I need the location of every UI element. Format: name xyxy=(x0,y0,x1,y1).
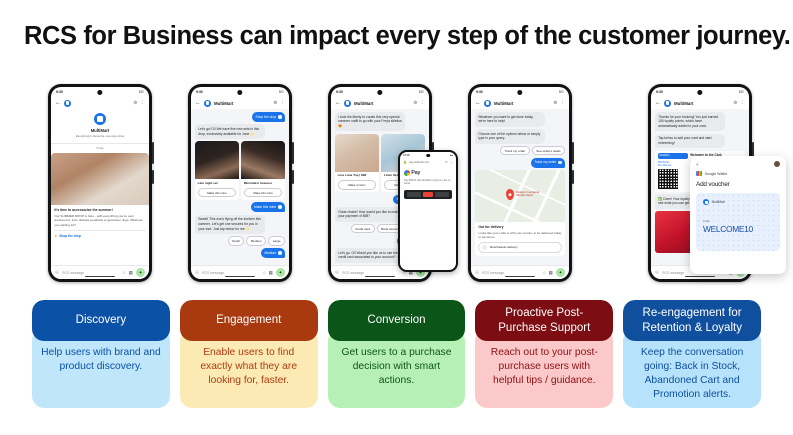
agent-message-loyalty-points: Thanks for your booking! You just earned… xyxy=(655,112,725,131)
phone-side-button xyxy=(292,142,294,164)
status-bar: 9:30 5G xyxy=(471,87,569,97)
voucher-code-value: WELCOME10 xyxy=(703,224,773,234)
camera-notch-icon xyxy=(697,90,702,95)
product-title: Minimalist treasure xyxy=(241,179,285,185)
user-reply-shop-the-drop: Shop the drop xyxy=(252,112,285,122)
payment-chip-credit-card[interactable]: Credit card xyxy=(351,224,375,233)
back-arrow-icon[interactable]: ← xyxy=(195,100,201,106)
journey-card-header: Re-engagement for Retention & Loyalty xyxy=(623,300,761,341)
camera-notch-icon xyxy=(377,90,382,95)
journey-card-text: Help users with brand and product discov… xyxy=(41,347,161,372)
voucher-merchant-name: MultiMart xyxy=(712,200,725,204)
status-bar: 9:30 5G xyxy=(651,87,749,97)
message-composer[interactable]: ☉ RCS message ○ ▦ ✦ xyxy=(191,265,289,279)
browser-address-bar[interactable]: 🔒 pay.multimart.com ↻ ⋮ xyxy=(400,159,456,166)
option-chip-see-todays-deals[interactable]: See today's deals xyxy=(532,146,565,155)
journey-card-text: Reach out to your post-purchase users wi… xyxy=(491,347,598,386)
agent-message-confirm-card: Let's go. Oi! Would you like us to use t… xyxy=(335,248,405,263)
emoji-icon[interactable]: ☉ xyxy=(195,270,199,276)
settings-icon[interactable]: ⚙ xyxy=(273,100,277,106)
home-indicator xyxy=(85,276,115,277)
product-title: Late night set xyxy=(195,179,239,185)
google-wallet-label: Google Wallet xyxy=(705,172,727,176)
slide-root: RCS for Business can impact every step o… xyxy=(0,0,793,435)
status-signal-icon: 5G xyxy=(559,90,564,94)
brand-avatar-icon xyxy=(703,199,709,205)
loyalty-card-left: MultiMart 150 Points Tier: Bronze xyxy=(658,153,688,189)
brand-intro-tagline: Everybody's favourite one-stop-shop xyxy=(56,134,144,138)
brand-intro-name: MultiMart xyxy=(56,128,144,133)
status-signal-icon: 5G xyxy=(279,90,284,94)
avatar[interactable] xyxy=(774,161,780,167)
home-indicator xyxy=(365,276,395,277)
google-pay-card-selector[interactable] xyxy=(404,190,452,199)
brand-avatar-icon xyxy=(344,100,351,107)
journey-card-title: Proactive Post-Purchase Support xyxy=(483,306,605,335)
back-arrow-icon[interactable]: ← xyxy=(55,100,61,106)
product-image xyxy=(195,141,239,179)
back-arrow-icon[interactable]: ← xyxy=(335,100,341,106)
settings-icon[interactable]: ⚙ xyxy=(413,100,417,106)
status-bar: 9:30 5G xyxy=(331,87,429,97)
reschedule-delivery-label: Reschedule delivery xyxy=(490,245,518,249)
make-this-mine-button[interactable]: Make this mine xyxy=(244,188,283,197)
agent-message-size-prompt: Sweet! This one's flying off the shelves… xyxy=(195,215,265,234)
pay-card-brand-icon xyxy=(423,192,433,197)
rich-card-summer-drop[interactable]: It's time to accessorise the summer! Our… xyxy=(51,153,149,241)
delivery-card-body: Out for delivery Looks like your order i… xyxy=(475,222,565,256)
product-carousel: Late night set Make this mine Minimalist… xyxy=(195,141,285,199)
brand-name: MultiMart xyxy=(674,101,730,106)
agent-message-greeting: Whatever you want to get done today, we'… xyxy=(475,112,545,127)
journey-card-conversion: Conversion Get users to a purchase decis… xyxy=(328,300,466,408)
emoji-icon[interactable]: ☉ xyxy=(335,270,339,276)
journey-card-text: Keep the conversation going: Back in Sto… xyxy=(641,347,743,400)
day-separator: Today xyxy=(51,144,149,153)
app-bar: ← MultiMart ⚙ ⋮ xyxy=(331,97,429,109)
settings-icon[interactable]: ⚙ xyxy=(733,100,737,106)
phone-volume-button xyxy=(152,170,154,184)
journey-card-support: Proactive Post-Purchase Support Reach ou… xyxy=(475,300,613,408)
delivery-status-text: Looks like your order is with your couri… xyxy=(478,231,561,240)
home-indicator xyxy=(225,276,255,277)
voucher-merchant: MultiMart xyxy=(703,199,773,205)
gallery-icon[interactable]: ▦ xyxy=(269,270,273,276)
phone-mockup-discovery: 9:30 5G ← MultiMart ⚙ ⋮ MultiMart Everyb… xyxy=(48,84,152,282)
voucher-card[interactable]: MultiMart Code WELCOME10 xyxy=(696,193,780,251)
phone-mockups-row: 9:30 5G ← MultiMart ⚙ ⋮ MultiMart Everyb… xyxy=(0,78,793,288)
journey-card-title: Discovery xyxy=(76,313,126,327)
make-this-mine-button[interactable]: Make this mine xyxy=(198,188,237,197)
journey-card-title: Conversion xyxy=(367,313,425,327)
sticker-icon[interactable]: ○ xyxy=(543,270,546,275)
agent-message-options: Choose one of the options below or simpl… xyxy=(475,129,545,144)
google-pay-note: Pay $98.00 with MultiMart using the card… xyxy=(404,179,452,186)
product-card-minimalist-treasure[interactable]: Minimalist treasure Make this mine xyxy=(241,141,285,199)
product-title: Lina Luna Top | $98 xyxy=(335,172,379,178)
google-pay-screen: 10:08 ●● 🔒 pay.multimart.com ↻ ⋮ Pay Pay… xyxy=(400,152,456,270)
camera-notch-icon xyxy=(426,154,430,158)
status-bar: 10:08 ●● xyxy=(400,152,456,159)
map-pin-icon xyxy=(505,189,513,200)
journey-card-text: Get users to a purchase decision with sm… xyxy=(342,347,452,386)
camera-notch-icon xyxy=(97,90,102,95)
journey-card-title: Engagement xyxy=(216,313,281,327)
conversation-engagement: Shop the drop Let's go! Oi! We have five… xyxy=(191,109,289,265)
status-signal-icon: 5G xyxy=(419,90,424,94)
brand-intro-header: MultiMart Everybody's favourite one-stop… xyxy=(51,109,149,144)
close-icon[interactable]: × xyxy=(696,162,699,167)
agent-message-payment-prompt: Great choice! How would you like to make… xyxy=(335,207,405,222)
status-signal-icon: 5G xyxy=(739,90,744,94)
overflow-menu-icon[interactable]: ⋮ xyxy=(420,100,425,106)
reschedule-delivery-button[interactable]: Reschedule delivery xyxy=(478,242,561,253)
message-composer[interactable]: ☉ RCS message ○ ▦ ✦ xyxy=(471,265,569,279)
journey-card-header: Engagement xyxy=(180,300,318,341)
status-time: 10:08 xyxy=(403,154,410,157)
agent-message-new-sets: Let's go! Oi! We have five new sets in t… xyxy=(195,124,265,139)
agent-message-curated-outfit: I took the liberty to curate this very s… xyxy=(335,112,405,131)
brand-name: MultiMart xyxy=(354,101,410,106)
app-bar: ← MultiMart ⚙ ⋮ xyxy=(191,97,289,109)
delivered-icon xyxy=(278,205,282,209)
status-time: 9:30 xyxy=(336,90,343,94)
app-bar: ← MultiMart ⚙ ⋮ xyxy=(51,97,149,109)
pay-card-chip xyxy=(407,192,421,197)
app-bar: ← MultiMart ⚙ ⋮ xyxy=(651,97,749,109)
product-image xyxy=(335,134,379,172)
back-arrow-icon[interactable]: ← xyxy=(655,100,661,106)
journey-card-engagement: Engagement Enable users to find exactly … xyxy=(180,300,318,408)
calendar-icon xyxy=(482,245,487,250)
camera-notch-icon xyxy=(237,90,242,95)
app-bar: ← MultiMart ⚙ ⋮ xyxy=(471,97,569,109)
overflow-menu-icon[interactable]: ⋮ xyxy=(560,100,565,106)
message-input[interactable]: RCS message xyxy=(482,271,540,275)
journey-card-title: Re-engagement for Retention & Loyalty xyxy=(631,306,753,335)
camera-notch-icon xyxy=(517,90,522,95)
brand-avatar-icon xyxy=(484,100,491,107)
emoji-icon[interactable]: ☉ xyxy=(475,270,479,276)
google-pay-branding: Pay xyxy=(404,170,452,176)
loyalty-brand-chip: MultiMart xyxy=(658,153,688,159)
home-indicator xyxy=(685,276,715,277)
send-button[interactable]: ✦ xyxy=(276,268,285,277)
delivery-map[interactable]: Delivery in progress Merrilyn depot xyxy=(475,170,565,222)
loyalty-tier-text: 150 Points Tier: Bronze xyxy=(658,161,688,168)
phone-mockup-engagement: 9:30 5G ← MultiMart ⚙ ⋮ Shop the drop xyxy=(188,84,292,282)
gallery-icon[interactable]: ▦ xyxy=(129,270,133,276)
google-pay-body: Pay Pay $98.00 with MultiMart using the … xyxy=(400,166,456,270)
page-title: RCS for Business can impact every step o… xyxy=(24,22,774,51)
agent-message-add-card: Tap below to add your card and start red… xyxy=(655,134,725,149)
user-reply-label: Shop the drop xyxy=(256,115,277,120)
map-pin-label: Delivery in progress Merrilyn depot xyxy=(516,191,539,197)
journey-cards-row: Discovery Help users with brand and prod… xyxy=(0,300,793,408)
message-input[interactable]: RCS message xyxy=(202,271,260,275)
chevron-right-icon: ➤ xyxy=(54,234,57,238)
wallet-sheet-top-bar: × xyxy=(696,161,780,167)
journey-card-header: Conversion xyxy=(328,300,466,341)
product-card-lina-luna-top[interactable]: Lina Luna Top | $98 Make it mine! xyxy=(335,134,379,192)
user-reply-make-this-mine: Make this mine xyxy=(251,202,285,212)
journey-card-reengagement: Re-engagement for Retention & Loyalty Ke… xyxy=(623,300,761,408)
google-wallet-icon xyxy=(696,171,702,176)
product-card-late-night-set[interactable]: Late night set Make this mine xyxy=(195,141,239,199)
phone-volume-button xyxy=(292,170,294,184)
phone-screen-engagement: 9:30 5G ← MultiMart ⚙ ⋮ Shop the drop xyxy=(191,87,289,279)
brand-name: MultiMart xyxy=(214,101,270,106)
size-chip-list: Small Medium Large xyxy=(195,236,285,245)
gallery-icon[interactable]: ▦ xyxy=(549,270,553,276)
google-pay-icon xyxy=(404,170,410,176)
status-time: 9:30 xyxy=(656,90,663,94)
rich-card-title: It's time to accessorise the summer! xyxy=(54,208,145,212)
emoji-icon[interactable]: ☉ xyxy=(655,270,659,276)
journey-card-text: Enable users to find exactly what they a… xyxy=(200,347,297,386)
phone-side-button xyxy=(152,142,154,164)
sticker-icon[interactable]: ○ xyxy=(263,270,266,275)
phone-volume-button xyxy=(572,170,574,184)
user-reply-label: Medium xyxy=(264,251,276,256)
lock-icon: 🔒 xyxy=(403,160,407,164)
back-arrow-icon[interactable]: ← xyxy=(475,100,481,106)
shop-the-drop-label: Shop the drop xyxy=(59,234,81,238)
status-time: 9:30 xyxy=(476,90,483,94)
refresh-icon[interactable]: ↻ xyxy=(445,160,448,164)
address-bar-url[interactable]: pay.multimart.com xyxy=(409,161,443,164)
journey-card-header: Proactive Post-Purchase Support xyxy=(475,300,613,341)
option-chip-track-my-order[interactable]: Track my order xyxy=(500,146,529,155)
google-pay-overlay-phone: 10:08 ●● 🔒 pay.multimart.com ↻ ⋮ Pay Pay… xyxy=(398,150,458,272)
delivered-icon xyxy=(278,251,282,255)
google-pay-label: Pay xyxy=(411,170,420,176)
status-bar: 9:30 5G xyxy=(191,87,289,97)
conversation-support: Whatever you want to get done today, we'… xyxy=(471,109,569,265)
video-call-icon[interactable]: ⚙ xyxy=(133,100,137,106)
make-it-mine-button[interactable]: Make it mine! xyxy=(338,180,377,189)
delivered-icon xyxy=(558,161,562,165)
brand-name: MultiMart xyxy=(494,101,550,106)
status-signal-icon: 5G xyxy=(139,90,144,94)
send-button[interactable]: ✦ xyxy=(556,268,565,277)
overflow-menu-icon[interactable]: ⋮ xyxy=(450,160,453,164)
message-input[interactable]: RCS message xyxy=(342,271,400,275)
journey-card-discovery: Discovery Help users with brand and prod… xyxy=(32,300,170,408)
qr-code-icon xyxy=(658,169,678,189)
status-time: 9:30 xyxy=(196,90,203,94)
size-chip-medium[interactable]: Medium xyxy=(246,236,266,245)
phone-mockup-support: 9:30 5G ← MultiMart ⚙ ⋮ Whatever you wan… xyxy=(468,84,572,282)
product-image xyxy=(241,141,285,179)
delivery-status-title: Out for delivery xyxy=(478,225,561,229)
sticker-icon[interactable]: ○ xyxy=(123,270,126,275)
phone-side-button xyxy=(572,142,574,164)
voucher-code-label: Code xyxy=(703,219,773,223)
emoji-icon[interactable]: ☉ xyxy=(55,270,59,276)
journey-card-header: Discovery xyxy=(32,300,170,341)
user-reply-label: Track my order xyxy=(534,160,556,165)
brand-avatar-icon xyxy=(664,100,671,107)
delivered-icon xyxy=(278,115,282,119)
settings-icon[interactable]: ⚙ xyxy=(553,100,557,106)
conversation-discovery: It's time to accessorise the summer! Our… xyxy=(51,153,149,265)
brand-logo-icon xyxy=(94,113,106,125)
option-chip-list: Track my order See today's deals xyxy=(475,146,565,155)
google-wallet-overlay: × Google Wallet Add voucher MultiMart Co… xyxy=(690,156,786,274)
product-hero-image xyxy=(51,153,149,205)
shop-the-drop-button[interactable]: ➤ Shop the drop xyxy=(54,230,145,238)
rich-card-text: Our SUMMER DROP is here - with everythin… xyxy=(54,214,145,227)
phone-screen-support: 9:30 5G ← MultiMart ⚙ ⋮ Whatever you wan… xyxy=(471,87,569,279)
status-bar: 9:30 5G xyxy=(51,87,149,97)
pay-card-number xyxy=(435,192,449,197)
user-reply-label: Make this mine xyxy=(254,205,276,210)
overflow-menu-icon[interactable]: ⋮ xyxy=(740,100,745,106)
wallet-branding: Google Wallet xyxy=(696,171,780,176)
user-reply-medium: Medium xyxy=(261,248,285,258)
message-input[interactable]: RCS message xyxy=(62,271,120,275)
user-reply-track-my-order: Track my order xyxy=(531,158,565,168)
brand-avatar-icon xyxy=(204,100,211,107)
size-chip-small[interactable]: Small xyxy=(228,236,245,245)
phone-screen-discovery: 9:30 5G ← MultiMart ⚙ ⋮ MultiMart Everyb… xyxy=(51,87,149,279)
home-indicator xyxy=(505,276,535,277)
message-composer[interactable]: ☉ RCS message ○ ▦ ✦ xyxy=(51,265,149,279)
status-signal-icon: ●● xyxy=(450,154,453,157)
status-time: 9:30 xyxy=(56,90,63,94)
overflow-menu-icon[interactable]: ⋮ xyxy=(280,100,285,106)
rich-card-body: It's time to accessorise the summer! Our… xyxy=(51,205,149,241)
overflow-menu-icon[interactable]: ⋮ xyxy=(140,100,145,106)
rich-card-delivery-tracking[interactable]: Delivery in progress Merrilyn depot Out … xyxy=(475,170,565,256)
send-button[interactable]: ✦ xyxy=(136,268,145,277)
size-chip-large[interactable]: Large xyxy=(268,236,285,245)
brand-avatar-icon xyxy=(64,100,71,107)
wallet-sheet-title: Add voucher xyxy=(696,181,780,188)
